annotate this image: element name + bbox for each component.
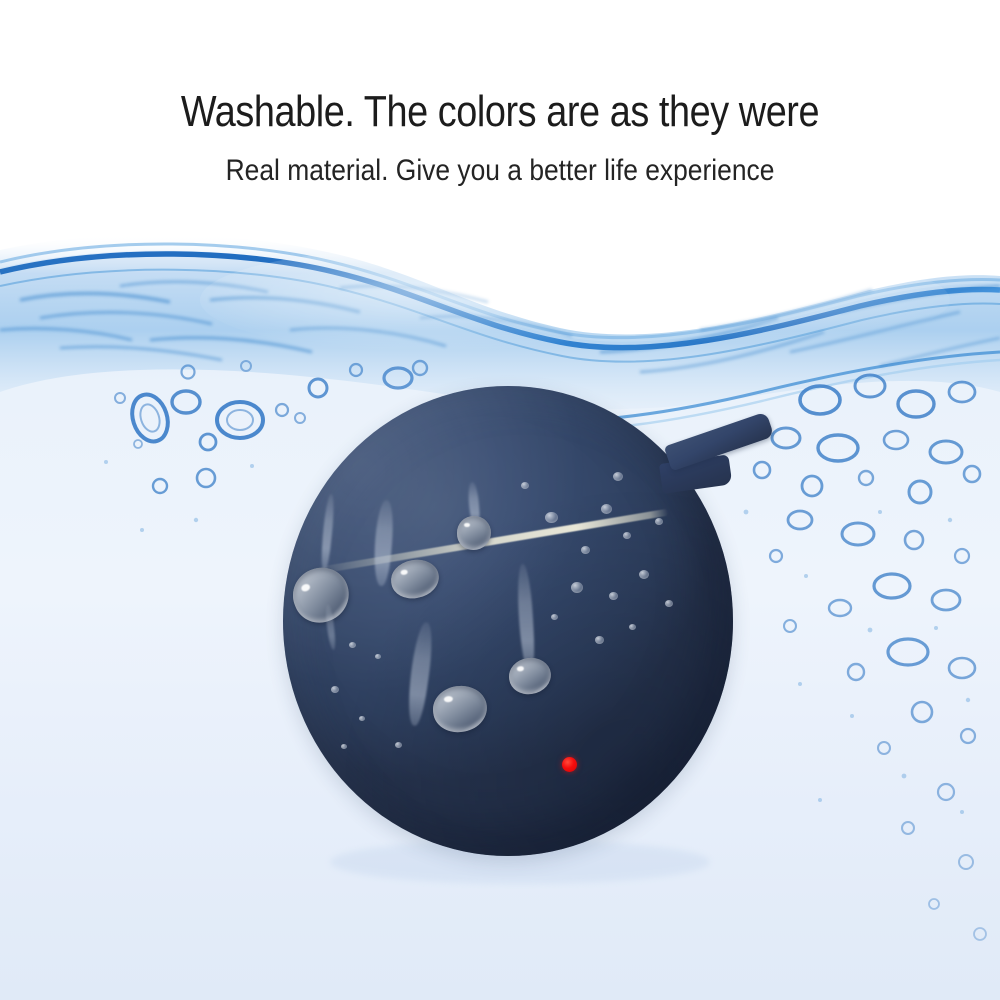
page-title: Washable. The colors are as they were: [70, 0, 930, 134]
micro-droplet: [623, 532, 631, 539]
micro-droplet: [375, 654, 381, 659]
micro-droplet: [521, 482, 529, 489]
micro-droplet: [331, 686, 339, 693]
micro-droplet: [609, 592, 618, 600]
micro-droplet: [639, 570, 649, 579]
micro-droplet: [613, 472, 623, 481]
speaker-body: [283, 386, 733, 856]
product-marketing-image: Washable. The colors are as they were Re…: [0, 0, 1000, 1000]
speaker-body-shading: [283, 386, 733, 856]
product-image: [283, 386, 753, 858]
micro-droplet: [395, 742, 402, 748]
micro-droplet: [341, 744, 347, 749]
micro-droplet: [359, 716, 365, 721]
micro-droplet: [595, 636, 604, 644]
micro-droplet: [655, 518, 663, 525]
micro-droplet: [581, 546, 590, 554]
page-subtitle: Real material. Give you a better life ex…: [60, 134, 940, 186]
micro-droplet: [349, 642, 356, 648]
micro-droplet: [629, 624, 636, 630]
micro-droplet: [665, 600, 673, 607]
micro-droplet: [551, 614, 558, 620]
micro-droplet: [601, 504, 612, 514]
marketing-copy: Washable. The colors are as they were Re…: [0, 0, 1000, 186]
power-indicator-led: [562, 757, 577, 772]
micro-droplet: [571, 582, 583, 593]
micro-droplet: [545, 512, 558, 523]
